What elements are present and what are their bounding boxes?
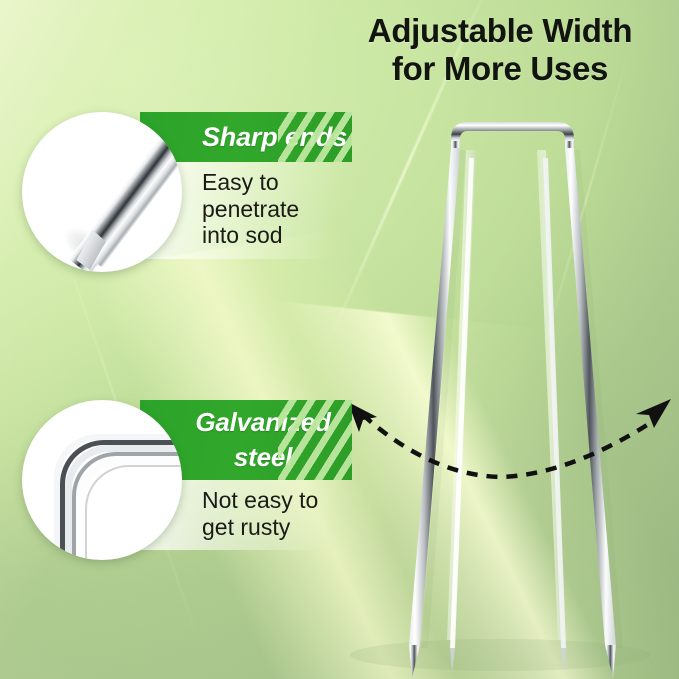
feature-sharp-ends-inset-photo	[22, 112, 182, 272]
page-title-line-1: Adjustable Width	[335, 12, 665, 50]
wire-bend-icon	[22, 400, 182, 560]
feature-galvanized-steel-label-line-2: steel	[192, 440, 334, 475]
feature-galvanized-steel-label-line-1: Galvanized	[192, 405, 334, 440]
infographic-canvas: Adjustable Width for More Uses Easy to p…	[0, 0, 679, 679]
feature-sharp-ends-description-line-2: into sod	[202, 222, 378, 249]
page-title-line-2: for More Uses	[335, 50, 665, 88]
feature-callout-galvanized-steel: Not easy to get rusty Galvanized steel	[22, 400, 372, 580]
feature-sharp-ends-label: Sharp ends	[202, 122, 347, 152]
feature-galvanized-steel-description-line-1: Not easy to	[202, 487, 378, 514]
feature-sharp-ends-description-line-1: Easy to penetrate	[202, 169, 378, 222]
wire-bend-layer	[85, 465, 182, 560]
feature-callout-sharp-ends: Easy to penetrate into sod Sharp ends	[22, 112, 372, 287]
feature-galvanized-steel-inset-photo	[22, 400, 182, 560]
page-title: Adjustable Width for More Uses	[335, 12, 665, 89]
sharp-tip-icon	[22, 112, 182, 272]
feature-galvanized-steel-description-line-2: get rusty	[202, 514, 378, 541]
